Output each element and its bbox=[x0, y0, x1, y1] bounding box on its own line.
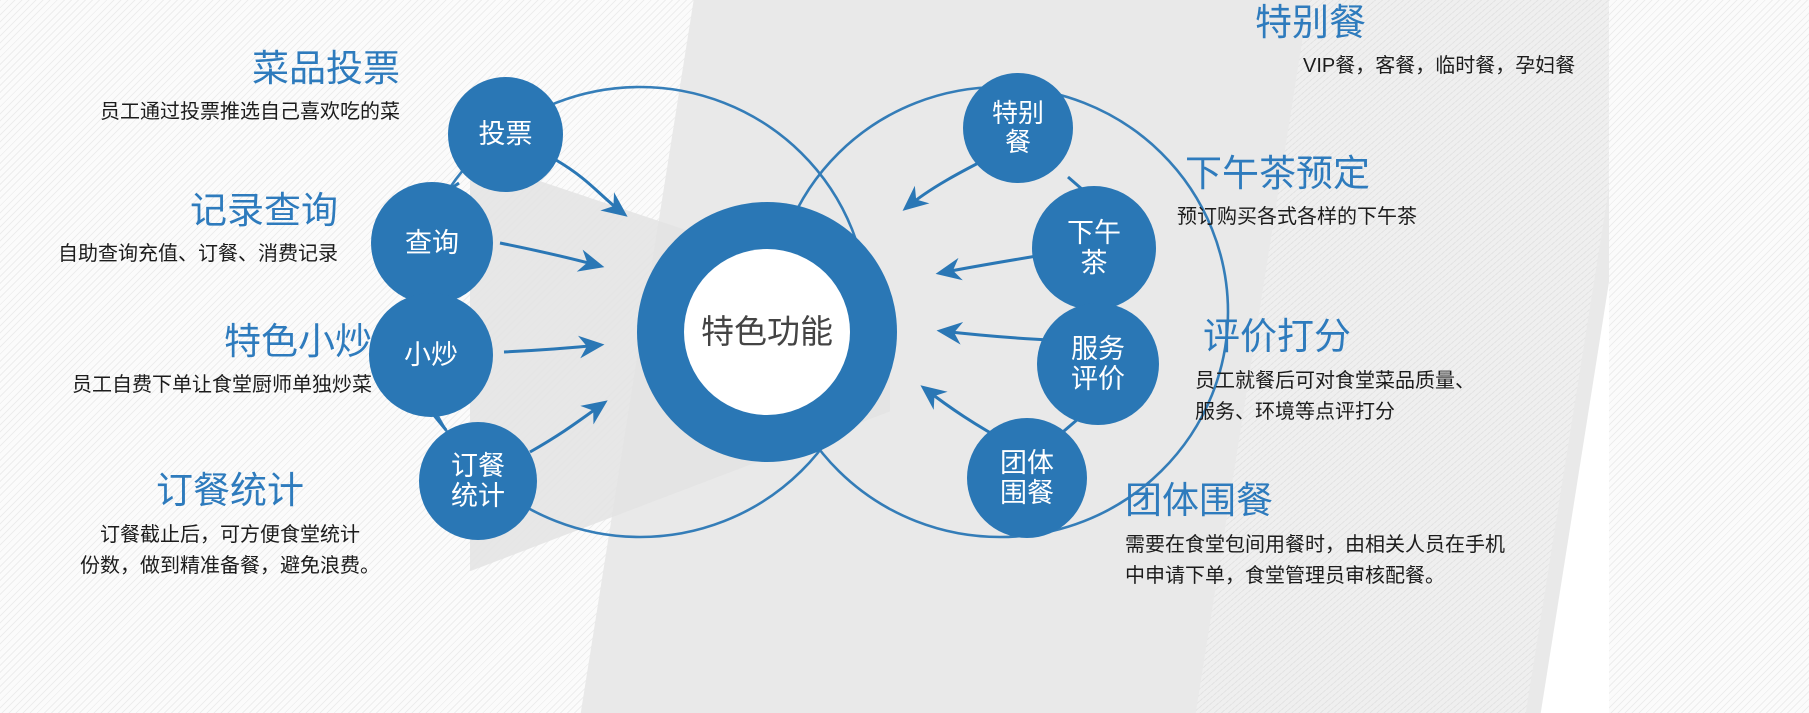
label-rating-score-line-2: 服务、环境等点评打分 bbox=[1195, 397, 1809, 428]
label-afternoon-tea-booking: 下午茶预定 预订购买各式各样的下午茶 bbox=[1345, 155, 1809, 233]
label-group-dining-line-1: 需要在食堂包间用餐时，由相关人员在手机 bbox=[1125, 530, 1785, 561]
label-signature-stirfry: 特色小炒 员工自费下单让食堂厨师单独炒菜 bbox=[0, 323, 372, 401]
label-dish-vote-title: 菜品投票 bbox=[0, 50, 400, 89]
node-service-review[interactable]: 服务评价 bbox=[1037, 303, 1159, 425]
node-stirfry-label: 小炒 bbox=[400, 340, 462, 370]
label-rating-score: 评价打分 员工就餐后可对食堂菜品质量、 服务、环境等点评打分 bbox=[1363, 318, 1809, 428]
node-query[interactable]: 查询 bbox=[371, 182, 493, 304]
label-special-meal-title: 特别餐 bbox=[1255, 4, 1735, 43]
label-dish-vote: 菜品投票 员工通过投票推选自己喜欢吃的菜 bbox=[0, 50, 400, 128]
node-special-meal[interactable]: 特别餐 bbox=[963, 73, 1073, 183]
node-stirfry[interactable]: 小炒 bbox=[369, 293, 493, 417]
node-group-dining[interactable]: 团体围餐 bbox=[967, 418, 1087, 538]
node-vote-label: 投票 bbox=[475, 119, 537, 149]
node-afternoon-tea[interactable]: 下午茶 bbox=[1032, 186, 1156, 310]
node-afternoon-tea-label: 下午茶 bbox=[1060, 218, 1128, 278]
infographic-canvas: 特色功能 投票 查询 小炒 订餐统计 特别餐 下午茶 服务评价 团体围餐 菜品投… bbox=[0, 0, 1809, 713]
node-special-meal-label: 特别餐 bbox=[986, 99, 1050, 157]
node-order-stats[interactable]: 订餐统计 bbox=[419, 422, 537, 540]
label-order-statistics-line-2: 份数，做到精准备餐，避免浪费。 bbox=[60, 551, 400, 582]
label-group-dining: 团体围餐 需要在食堂包间用餐时，由相关人员在手机 中申请下单，食堂管理员审核配餐… bbox=[1125, 482, 1785, 592]
label-rating-score-line-1: 员工就餐后可对食堂菜品质量、 bbox=[1195, 366, 1809, 397]
label-rating-score-title: 评价打分 bbox=[1203, 318, 1809, 357]
right-connectors bbox=[906, 152, 1051, 445]
node-group-dining-label: 团体围餐 bbox=[992, 448, 1062, 508]
label-record-query-line-1: 自助查询充值、订餐、消费记录 bbox=[0, 239, 338, 270]
node-service-review-label: 服务评价 bbox=[1063, 334, 1133, 394]
node-vote[interactable]: 投票 bbox=[448, 77, 563, 192]
label-special-meal: 特别餐 VIP餐，客餐，临时餐，孕妇餐 bbox=[1255, 4, 1735, 82]
label-special-meal-line-1: VIP餐，客餐，临时餐，孕妇餐 bbox=[1303, 51, 1735, 82]
label-record-query-title: 记录查询 bbox=[0, 192, 338, 231]
hub-node[interactable]: 特色功能 bbox=[637, 202, 897, 462]
label-order-statistics-title: 订餐统计 bbox=[60, 472, 400, 511]
label-dish-vote-line-1: 员工通过投票推选自己喜欢吃的菜 bbox=[0, 97, 400, 128]
hub-inner-circle: 特色功能 bbox=[684, 249, 850, 415]
label-afternoon-tea-booking-line-1: 预订购买各式各样的下午茶 bbox=[1177, 202, 1809, 233]
label-signature-stirfry-line-1: 员工自费下单让食堂厨师单独炒菜 bbox=[0, 370, 372, 401]
node-query-label: 查询 bbox=[401, 228, 463, 258]
label-order-statistics: 订餐统计 订餐截止后，可方便食堂统计 份数，做到精准备餐，避免浪费。 bbox=[60, 472, 400, 582]
label-signature-stirfry-title: 特色小炒 bbox=[0, 323, 372, 362]
label-record-query: 记录查询 自助查询充值、订餐、消费记录 bbox=[0, 192, 338, 270]
label-afternoon-tea-booking-title: 下午茶预定 bbox=[1185, 155, 1809, 194]
label-order-statistics-line-1: 订餐截止后，可方便食堂统计 bbox=[60, 520, 400, 551]
left-connectors bbox=[500, 160, 624, 452]
label-group-dining-title: 团体围餐 bbox=[1125, 482, 1785, 521]
node-order-stats-label: 订餐统计 bbox=[437, 451, 519, 511]
hub-label: 特色功能 bbox=[701, 312, 833, 352]
label-group-dining-line-2: 中申请下单，食堂管理员审核配餐。 bbox=[1125, 561, 1785, 592]
